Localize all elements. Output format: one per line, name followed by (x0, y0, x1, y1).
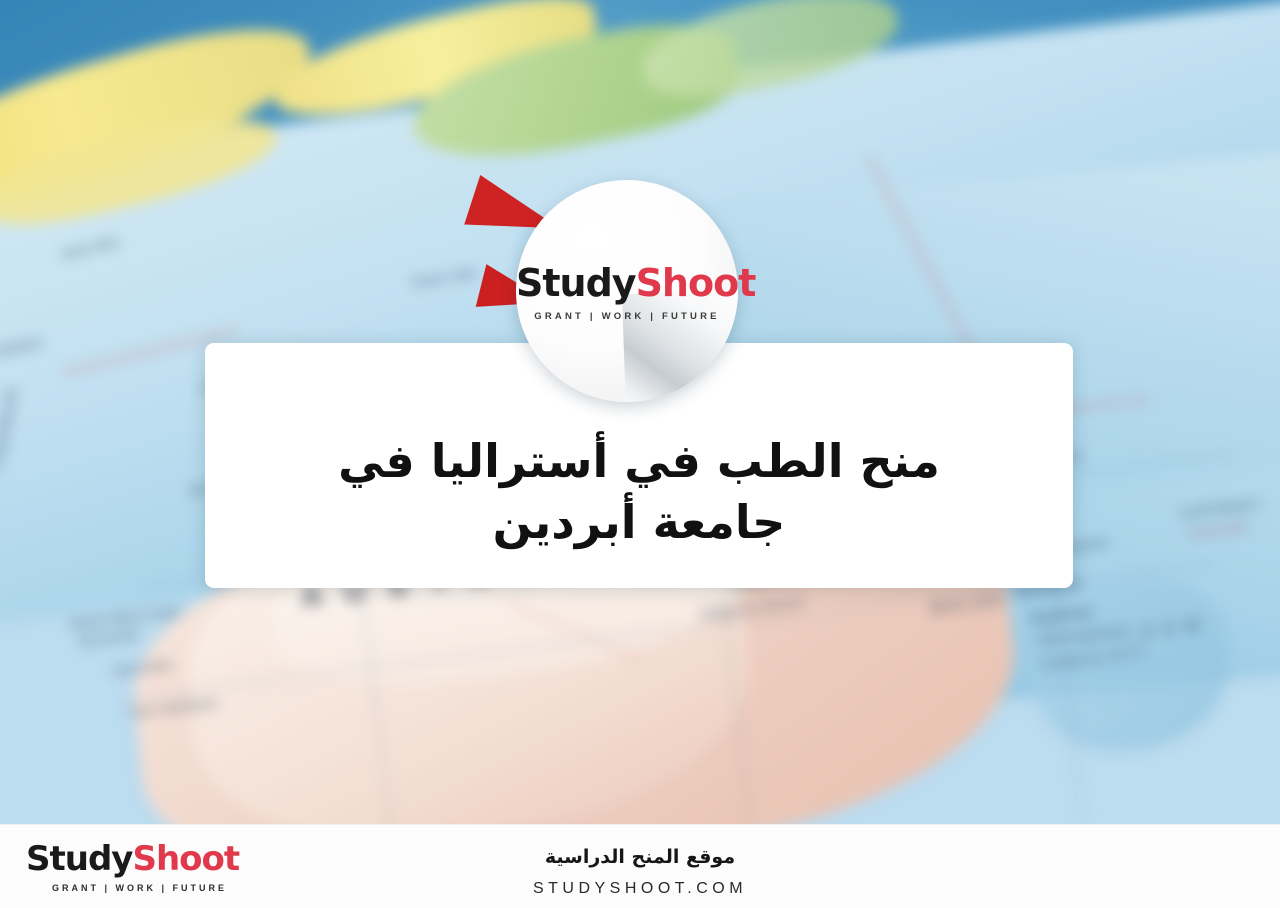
poster-canvas: A U S T R A L I A SOUTH WALES T A S M Sy… (0, 0, 1280, 908)
sticker-wordmark-shoot: Shoot (636, 261, 756, 305)
footer-bar: StudyShoot GRANT | WORK | FUTURE موقع ال… (0, 824, 1280, 908)
footer-center-block: موقع المنح الدراسية STUDYSHOOT.COM (0, 847, 1280, 898)
page-title-line-1: منح الطب في أستراليا في (338, 431, 940, 492)
sticker-logo: StudyShoot GRANT | WORK | FUTURE (516, 264, 738, 322)
footer-website-url[interactable]: STUDYSHOOT.COM (0, 880, 1280, 898)
sticker-tagline: GRANT | WORK | FUTURE (516, 311, 738, 322)
brand-sticker: StudyShoot GRANT | WORK | FUTURE (516, 180, 738, 402)
sticker-wordmark-study: Study (516, 261, 636, 305)
sticker-wordmark: StudyShoot (516, 264, 738, 302)
map-label-place: Exmouth (79, 626, 140, 648)
page-title: منح الطب في أستراليا في جامعة أبردين (280, 431, 998, 552)
footer-arabic-label: موقع المنح الدراسية (0, 847, 1280, 868)
page-title-line-2: جامعة أبردين (338, 492, 940, 553)
